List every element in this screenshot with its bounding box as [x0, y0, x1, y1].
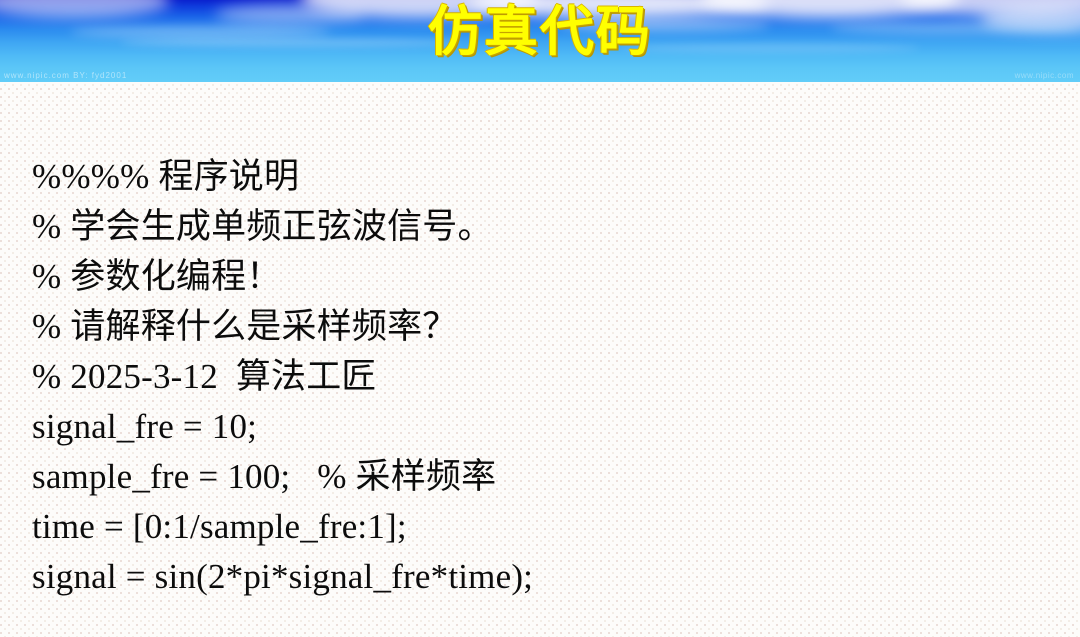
code-line: % 学会生成单频正弦波信号。: [32, 202, 1052, 252]
code-line: signal_fre = 10;: [32, 402, 1052, 452]
watermark-left-text: www.nipic.com BY: fyd2001: [4, 71, 127, 80]
code-line: signal = sin(2*pi*signal_fre*time);: [32, 552, 1052, 602]
watermark-right-text: www.nipic.com: [1015, 71, 1074, 80]
presentation-slide: www.nipic.com BY: fyd2001 www.nipic.com …: [0, 0, 1080, 637]
code-line: sample_fre = 100; % 采样频率: [32, 452, 1052, 502]
code-listing: %%%% 程序说明 % 学会生成单频正弦波信号。 % 参数化编程！ % 请解释什…: [32, 152, 1052, 602]
code-line: %%%% 程序说明: [32, 152, 1052, 202]
stock-photo-watermark: www.nipic.com BY: fyd2001 www.nipic.com: [0, 71, 1080, 80]
code-line: % 2025-3-12 算法工匠: [32, 352, 1052, 402]
slide-header-banner: www.nipic.com BY: fyd2001 www.nipic.com …: [0, 0, 1080, 82]
page-title: 仿真代码: [0, 0, 1080, 64]
code-line: % 参数化编程！: [32, 252, 1052, 302]
code-line: time = [0:1/sample_fre:1];: [32, 502, 1052, 552]
code-line: % 请解释什么是采样频率？: [32, 302, 1052, 352]
